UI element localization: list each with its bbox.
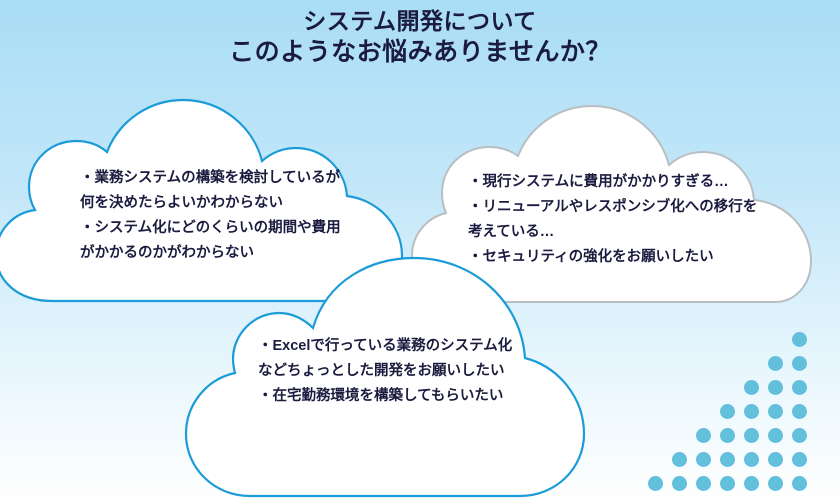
decoration-dot [696, 428, 711, 443]
cloud-right-line-1: ・現行システムに費用がかかりすぎる… [468, 170, 757, 195]
decoration-dot [792, 332, 807, 347]
decoration-dot [744, 476, 759, 491]
page-title: システム開発について このようなお悩みありませんか？ [0, 6, 840, 69]
cloud-bottom-line-1: ・Excelで行っている業務のシステム化 [258, 334, 512, 359]
decoration-dot [792, 428, 807, 443]
dot-grid-decoration [648, 332, 824, 496]
decoration-dot [744, 404, 759, 419]
cloud-left-text: ・業務システムの構築を検討しているが 何を決めたらよいかわからない ・システム化… [80, 166, 341, 266]
cloud-bottom-line-2: などちょっとした開発をお願いしたい [258, 359, 512, 384]
decoration-dot [672, 452, 687, 467]
cloud-right-line-2: ・リニューアルやレスポンシブ化への移行を [468, 195, 757, 220]
decoration-dot [648, 476, 663, 491]
page-title-line-1: システム開発について [0, 6, 840, 36]
decoration-dot [720, 452, 735, 467]
decoration-dot [792, 452, 807, 467]
cloud-bottom-line-3: ・在宅勤務環境を構築してもらいたい [258, 384, 512, 409]
decoration-dot [744, 428, 759, 443]
decoration-dot [696, 476, 711, 491]
slide-canvas: システム開発について このようなお悩みありませんか？ ・現行システムに費用がかか… [0, 0, 840, 503]
decoration-dot [744, 380, 759, 395]
decoration-dot [792, 356, 807, 371]
cloud-right-line-3: 考えている… [468, 220, 757, 245]
decoration-dot [696, 452, 711, 467]
decoration-dot [720, 476, 735, 491]
decoration-dot [768, 428, 783, 443]
decoration-dot [720, 404, 735, 419]
decoration-dot [792, 404, 807, 419]
decoration-dot [768, 452, 783, 467]
cloud-left-line-1: ・業務システムの構築を検討しているが [80, 166, 341, 191]
decoration-dot [768, 476, 783, 491]
decoration-dot [744, 452, 759, 467]
decoration-dot [672, 476, 687, 491]
decoration-dot [720, 428, 735, 443]
cloud-bottom-text: ・Excelで行っている業務のシステム化 などちょっとした開発をお願いしたい ・… [258, 334, 512, 409]
page-title-line-2: このようなお悩みありませんか？ [0, 36, 840, 69]
cloud-left-line-3: ・システム化にどのくらいの期間や費用 [80, 216, 341, 241]
decoration-dot [768, 380, 783, 395]
cloud-left-line-2: 何を決めたらよいかわからない [80, 191, 341, 216]
decoration-dot [768, 404, 783, 419]
decoration-dot [768, 356, 783, 371]
decoration-dot [792, 476, 807, 491]
decoration-dot [792, 380, 807, 395]
